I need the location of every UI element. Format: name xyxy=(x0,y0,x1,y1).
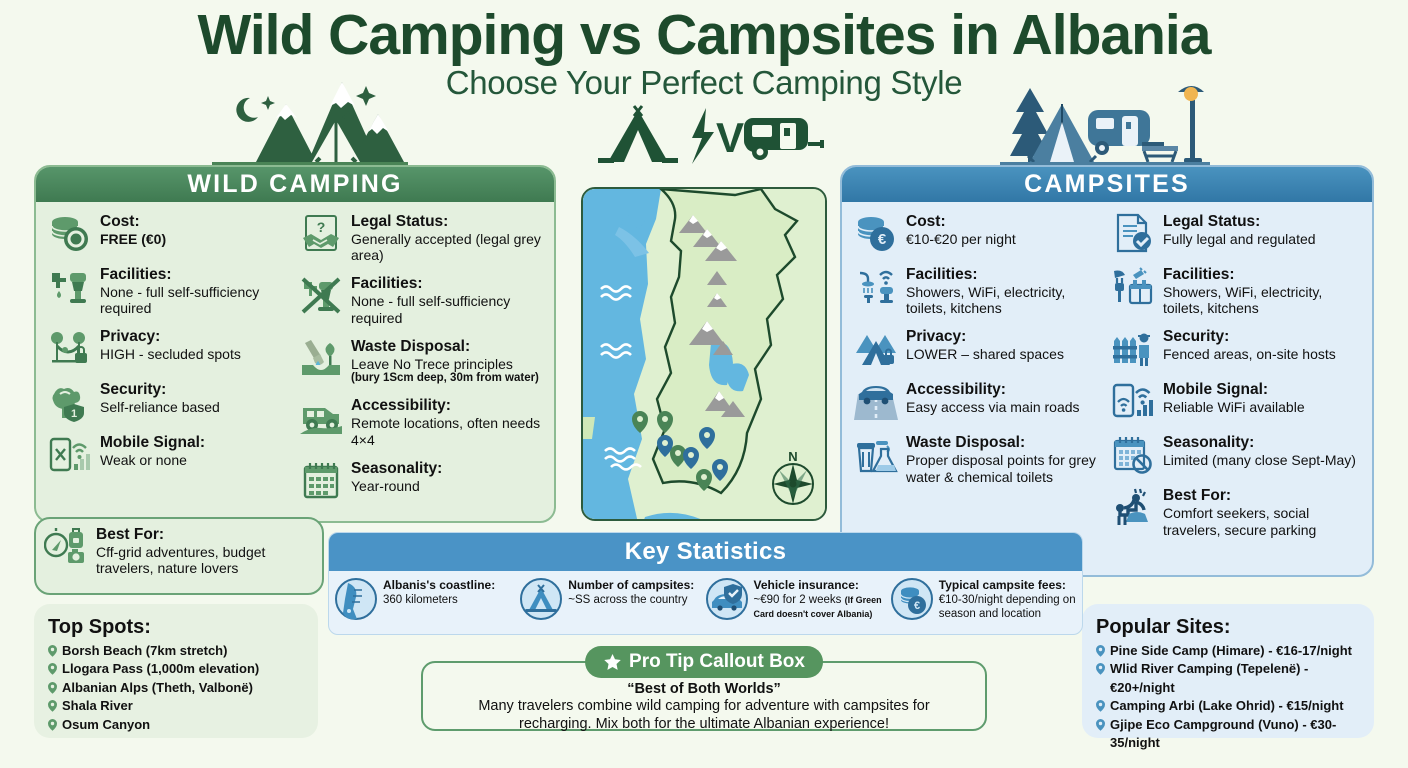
feature-title: Accessibility: xyxy=(351,397,542,415)
feature-title: Privacy: xyxy=(100,328,241,346)
feature-title: Legal Status: xyxy=(351,213,542,231)
feature-value: Showers, WiFi, electricity, toilets, kit… xyxy=(1163,284,1360,316)
list-item: Shala River xyxy=(48,697,304,715)
camp-feature-mobile-signal: Mobile Signal: Reliable WiFi available xyxy=(1111,380,1360,422)
camp-facilities-text: Facilities: Showers, WiFi, electricity, … xyxy=(906,265,1103,316)
pro-tip-box: Pro Tip Callout Box “Best of Both Worlds… xyxy=(421,661,987,731)
stat-vehicle-insurance: Vehicle insurance: ~€90 for 2 weeks (If … xyxy=(706,578,891,621)
stat-value: €10-30/night depending on season and loc… xyxy=(939,594,1076,620)
stat-value: ~SS across the country xyxy=(568,594,687,606)
feature-value: LOWER – shared spaces xyxy=(906,346,1064,362)
site-label: Wlid River Camping (Tepelenë) - €20+/nig… xyxy=(1110,660,1360,697)
shovel-tree-icon xyxy=(299,337,343,379)
relaxing-person-icon xyxy=(1111,486,1155,528)
shower-wifi-toilet-icon xyxy=(854,265,898,307)
feature-title: Cost: xyxy=(906,213,1016,231)
feature-title: Facilities: xyxy=(100,266,291,284)
stat-campsite-fees: € Typical campsite fees: €10-30/night de… xyxy=(891,578,1076,621)
wild-feature-security: 1 Security: Self-reliance based xyxy=(48,380,291,422)
phone-no-signal-icon xyxy=(48,433,92,475)
feature-value: Limited (many close Sept-May) xyxy=(1163,452,1356,468)
svg-text:1: 1 xyxy=(71,408,77,420)
coastline-icon xyxy=(335,578,377,620)
car-road-icon xyxy=(854,380,898,422)
feature-value: €10-€20 per night xyxy=(906,231,1016,247)
key-statistics-panel: Key Statistics Albanis's coastline: 360 … xyxy=(328,532,1083,635)
stat-value: ~€90 for 2 weeks xyxy=(754,594,842,606)
wild-seasonality-text: Seasonality: Year-round xyxy=(351,459,442,494)
feature-value: Remote locations, often needs 4×4 xyxy=(351,415,542,447)
campsites-right-column: Legal Status: Fully legal and regulated xyxy=(1107,212,1364,549)
wild-best-for-text: Best For: Cff-grid adventures, budget tr… xyxy=(96,525,314,576)
wild-feature-mobile-text: Mobile Signal: Weak or none xyxy=(100,433,205,468)
feature-title: Cost: xyxy=(100,213,166,231)
spot-label: Llogara Pass (1,000m elevation) xyxy=(62,660,259,678)
list-item: Borsh Beach (7km stretch) xyxy=(48,642,304,660)
wild-waste-text: Waste Disposal: Leave No Trece principle… xyxy=(351,337,539,386)
map-svg: N xyxy=(583,189,827,521)
camp-feature-waste: Waste Disposal: Proper disposal points f… xyxy=(854,433,1103,484)
wild-facilities2-text: Facilities: None - full self-sufficiency… xyxy=(351,274,542,325)
camp-mobile-text: Mobile Signal: Reliable WiFi available xyxy=(1163,380,1305,415)
stat-value: 360 kilometers xyxy=(383,594,458,606)
fence-host-icon xyxy=(1111,327,1155,369)
map-pin-icon xyxy=(1096,700,1105,712)
campsites-panel: CAMPSITES € Cost: €10-€20 per night xyxy=(840,165,1374,577)
pro-tip-line-2: recharging. Mix both for the ultimate Al… xyxy=(437,715,971,733)
spot-label: Borsh Beach (7km stretch) xyxy=(62,642,227,660)
wild-camping-panel: WILD CAMPING Cost: FREE (€0) xyxy=(34,165,556,523)
feature-value: Leave No Trece principles xyxy=(351,356,539,372)
phone-wifi-icon xyxy=(1111,380,1155,422)
pro-tip-heading: “Best of Both Worlds” xyxy=(437,681,971,697)
star-icon xyxy=(603,653,622,672)
calendar-icon xyxy=(299,459,343,501)
wild-feature-mobile-signal: Mobile Signal: Weak or none xyxy=(48,433,291,475)
stat-campsites-text: Number of campsites: ~SS across the coun… xyxy=(568,578,694,607)
map-pin-icon xyxy=(48,700,57,712)
feature-title: Mobile Signal: xyxy=(1163,381,1305,399)
tap-toilet-icon xyxy=(48,265,92,307)
map-pin-icon xyxy=(1096,645,1105,657)
wild-feature-legal-status: ? Legal Status: Generally accepted (lega… xyxy=(299,212,542,263)
hammock-lock-icon xyxy=(48,327,92,369)
camp-accessibility-text: Accessibility: Easy access via main road… xyxy=(906,380,1080,415)
coins-euro-icon: € xyxy=(854,212,898,254)
feature-title: Mobile Signal: xyxy=(100,434,205,452)
camp-seasonality-text: Seasonality: Limited (many close Sept-Ma… xyxy=(1163,433,1356,468)
svg-text:€: € xyxy=(914,600,920,612)
feature-title: Facilities: xyxy=(351,275,542,293)
albania-map: N xyxy=(581,187,827,521)
wild-feature-facilities-2: Facilities: None - full self-sufficiency… xyxy=(299,274,542,325)
camp-feature-facilities-2: Facilities: Showers, WiFi, electricity, … xyxy=(1111,265,1360,316)
site-label: Gjipe Eco Campground (Vuno) - €30-35/nig… xyxy=(1110,716,1360,753)
list-item: Gjipe Eco Campground (Vuno) - €30-35/nig… xyxy=(1096,716,1360,753)
list-item: Pine Side Camp (Himare) - €16-17/night xyxy=(1096,642,1360,660)
camp-feature-seasonality: Seasonality: Limited (many close Sept-Ma… xyxy=(1111,433,1360,475)
svg-text:?: ? xyxy=(317,219,326,235)
page-title: Wild Camping vs Campsites in Albania xyxy=(0,6,1408,66)
feature-title: Best For: xyxy=(1163,487,1360,505)
camp-feature-accessibility: Accessibility: Easy access via main road… xyxy=(854,380,1103,422)
camp-feature-privacy: Privacy: LOWER – shared spaces xyxy=(854,327,1103,369)
campsites-heading: CAMPSITES xyxy=(842,167,1372,202)
list-item: Osum Canyon xyxy=(48,716,304,734)
stat-campsites-count: Number of campsites: ~SS across the coun… xyxy=(520,578,705,621)
top-spots-list: Borsh Beach (7km stretch) Llogara Pass (… xyxy=(48,642,304,734)
camp-waste-text: Waste Disposal: Proper disposal points f… xyxy=(906,433,1103,484)
tent-icon xyxy=(520,578,562,620)
stat-title: Typical campsite fees: xyxy=(939,578,1076,593)
feature-value: Fenced areas, on-site hosts xyxy=(1163,346,1336,362)
list-item: Llogara Pass (1,000m elevation) xyxy=(48,660,304,678)
facilities-crossed-icon xyxy=(299,274,343,316)
pro-tip-badge-label: Pro Tip Callout Box xyxy=(629,651,805,673)
wild-feature-waste: Waste Disposal: Leave No Trece principle… xyxy=(299,337,542,386)
feature-value: Fully legal and regulated xyxy=(1163,231,1316,247)
key-statistics-heading: Key Statistics xyxy=(329,533,1082,571)
feature-value: Reliable WiFi available xyxy=(1163,399,1305,415)
map-pin-icon xyxy=(48,682,57,694)
feature-title: Seasonality: xyxy=(1163,434,1356,452)
feature-value: FREE (€0) xyxy=(100,231,166,247)
svg-text:€: € xyxy=(878,231,887,248)
feature-title: Security: xyxy=(1163,328,1336,346)
map-pin-icon xyxy=(1096,663,1105,675)
stat-fees-text: Typical campsite fees: €10-30/night depe… xyxy=(939,578,1076,621)
list-item: Wlid River Camping (Tepelenë) - €20+/nig… xyxy=(1096,660,1360,697)
wild-feature-accessibility: Accessibility: Remote locations, often n… xyxy=(299,396,542,447)
spot-label: Shala River xyxy=(62,697,133,715)
muscle-shield-icon: 1 xyxy=(48,380,92,422)
document-check-icon xyxy=(1111,212,1155,254)
feature-title: Waste Disposal: xyxy=(906,434,1103,452)
top-spots-heading: Top Spots: xyxy=(48,616,304,639)
spot-label: Albanian Alps (Theth, Valbonë) xyxy=(62,679,253,697)
feature-value: Year-round xyxy=(351,478,442,494)
site-label: Pine Side Camp (Himare) - €16-17/night xyxy=(1110,642,1352,660)
calendar-blocked-icon xyxy=(1111,433,1155,475)
wild-feature-cost: Cost: FREE (€0) xyxy=(48,212,291,254)
feature-value: Cff-grid adventures, budget travelers, n… xyxy=(96,544,314,576)
camp-feature-best-for: Best For: Comfort seekers, social travel… xyxy=(1111,486,1360,537)
popular-sites-card: Popular Sites: Pine Side Camp (Himare) -… xyxy=(1082,604,1374,738)
infographic-root: Wild Camping vs Campsites in Albania Cho… xyxy=(0,0,1408,768)
camp-feature-cost: € Cost: €10-€20 per night xyxy=(854,212,1103,254)
offroad-vehicle-icon xyxy=(299,396,343,438)
bin-flask-icon xyxy=(854,433,898,475)
coins-euro-icon: € xyxy=(891,578,933,620)
wild-right-column: ? Legal Status: Generally accepted (lega… xyxy=(295,212,546,512)
compass-backpack-camera-icon xyxy=(44,525,88,567)
feature-title: Security: xyxy=(100,381,220,399)
wild-feature-seasonality: Seasonality: Year-round xyxy=(299,459,542,501)
stat-title: Albanis's coastline: xyxy=(383,578,495,593)
wild-feature-facilities: Facilities: None - full self-sufficiency… xyxy=(48,265,291,316)
stat-insurance-text: Vehicle insurance: ~€90 for 2 weeks (If … xyxy=(754,578,891,621)
feature-value: Proper disposal points for grey water & … xyxy=(906,452,1103,484)
camp-feature-security: Security: Fenced areas, on-site hosts xyxy=(1111,327,1360,369)
stat-coastline-text: Albanis's coastline: 360 kilometers xyxy=(383,578,495,607)
coins-zero-icon xyxy=(48,212,92,254)
tent-vs-caravan-icon: VS xyxy=(594,104,830,168)
map-pin-icon xyxy=(48,663,57,675)
map-pin-icon xyxy=(48,719,57,731)
feature-value: HIGH - secluded spots xyxy=(100,346,241,362)
list-item: Albanian Alps (Theth, Valbonë) xyxy=(48,679,304,697)
camp-best-for-text: Best For: Comfort seekers, social travel… xyxy=(1163,486,1360,537)
camp-facilities2-text: Facilities: Showers, WiFi, electricity, … xyxy=(1163,265,1360,316)
compass-north-label: N xyxy=(788,449,797,464)
feature-value: Generally accepted (legal grey area) xyxy=(351,231,542,263)
campsites-left-column: € Cost: €10-€20 per night xyxy=(850,212,1107,549)
popular-sites-heading: Popular Sites: xyxy=(1096,616,1360,639)
pro-tip-badge: Pro Tip Callout Box xyxy=(585,646,823,678)
spot-label: Osum Canyon xyxy=(62,716,150,734)
feature-value: None - full self-sufficiency required xyxy=(100,284,291,316)
wild-feature-facilities-text: Facilities: None - full self-sufficiency… xyxy=(100,265,291,316)
feature-note: (bury 1Scm deep, 30m from water) xyxy=(351,372,539,385)
feature-title: Waste Disposal: xyxy=(351,338,539,356)
wild-feature-security-text: Security: Self-reliance based xyxy=(100,380,220,415)
wild-legal-text: Legal Status: Generally accepted (legal … xyxy=(351,212,542,263)
camp-privacy-text: Privacy: LOWER – shared spaces xyxy=(906,327,1064,362)
wild-best-for: Best For: Cff-grid adventures, budget tr… xyxy=(44,525,314,576)
list-item: Camping Arbi (Lake Ohrid) - €15/night xyxy=(1096,697,1360,715)
mountain-tent-icon xyxy=(212,62,408,168)
top-spots-card: Top Spots: Borsh Beach (7km stretch) Llo… xyxy=(34,604,318,738)
wild-left-column: Cost: FREE (€0) Facilities: xyxy=(44,212,295,512)
camp-feature-legal-status: Legal Status: Fully legal and regulated xyxy=(1111,212,1360,254)
plug-kitchen-icon xyxy=(1111,265,1155,307)
car-shield-icon xyxy=(706,578,748,620)
wild-accessibility-text: Accessibility: Remote locations, often n… xyxy=(351,396,542,447)
site-label: Camping Arbi (Lake Ohrid) - €15/night xyxy=(1110,697,1344,715)
feature-value: Showers, WiFi, electricity, toilets, kit… xyxy=(906,284,1103,316)
feature-title: Best For: xyxy=(96,526,314,544)
feature-title: Seasonality: xyxy=(351,460,442,478)
handshake-document-icon: ? xyxy=(299,212,343,254)
stat-title: Number of campsites: xyxy=(568,578,694,593)
wild-feature-cost-text: Cost: FREE (€0) xyxy=(100,212,166,247)
camp-legal-text: Legal Status: Fully legal and regulated xyxy=(1163,212,1316,247)
stat-coastline: Albanis's coastline: 360 kilometers xyxy=(335,578,520,621)
feature-value: None - full self-sufficiency required xyxy=(351,293,542,325)
wild-camping-heading: WILD CAMPING xyxy=(36,167,554,202)
feature-title: Accessibility: xyxy=(906,381,1080,399)
feature-title: Facilities: xyxy=(906,266,1103,284)
feature-title: Facilities: xyxy=(1163,266,1360,284)
feature-value: Self-reliance based xyxy=(100,399,220,415)
map-pin-icon xyxy=(1096,719,1105,731)
feature-value: Weak or none xyxy=(100,452,205,468)
feature-value: Comfort seekers, social travelers, secur… xyxy=(1163,505,1360,537)
wild-best-for-card: Best For: Cff-grid adventures, budget tr… xyxy=(34,517,324,595)
pro-tip-line-1: Many travelers combine wild camping for … xyxy=(437,697,971,715)
popular-sites-list: Pine Side Camp (Himare) - €16-17/night W… xyxy=(1096,642,1360,753)
map-pin-icon xyxy=(48,645,57,657)
camp-feature-facilities: Facilities: Showers, WiFi, electricity, … xyxy=(854,265,1103,316)
wild-feature-privacy-text: Privacy: HIGH - secluded spots xyxy=(100,327,241,362)
wild-feature-privacy: Privacy: HIGH - secluded spots xyxy=(48,327,291,369)
camp-cost-text: Cost: €10-€20 per night xyxy=(906,212,1016,247)
camp-security-text: Security: Fenced areas, on-site hosts xyxy=(1163,327,1336,362)
feature-title: Privacy: xyxy=(906,328,1064,346)
stat-title: Vehicle insurance: xyxy=(754,578,891,593)
feature-title: Legal Status: xyxy=(1163,213,1316,231)
campsite-scene-icon xyxy=(1000,76,1210,170)
feature-value: Easy access via main roads xyxy=(906,399,1080,415)
tents-lock-icon xyxy=(854,327,898,369)
